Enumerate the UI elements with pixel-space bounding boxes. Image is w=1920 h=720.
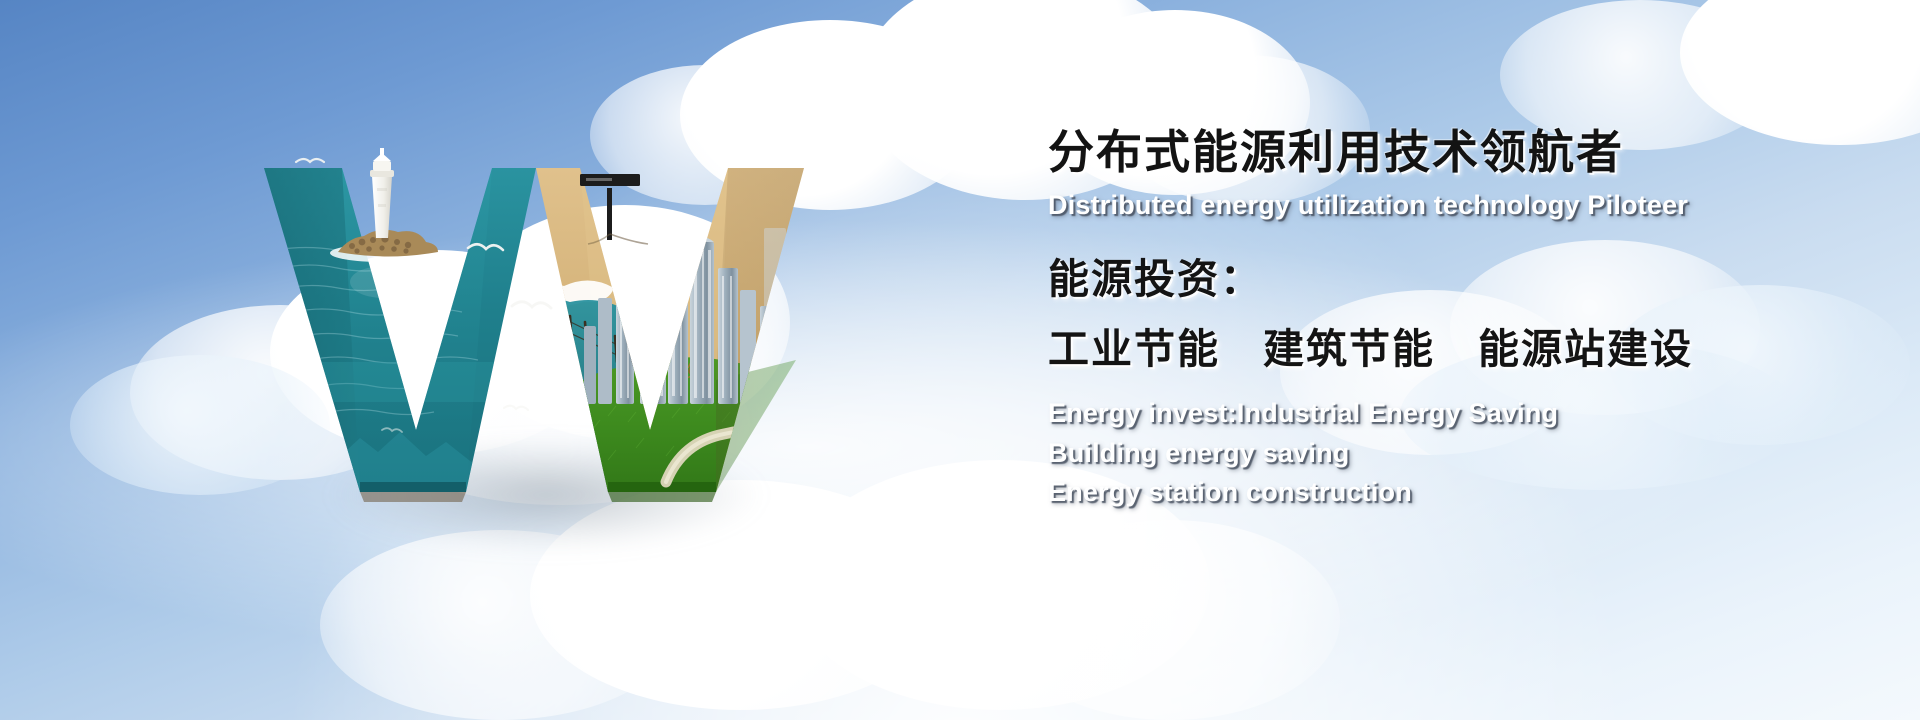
logo-w-svg [236, 130, 856, 530]
banner-text-panel: 分布式能源利用技术领航者 Distributed energy utilizat… [1048, 128, 1748, 512]
lighthouse-icon [370, 148, 394, 238]
service-line-1: Energy invest:Industrial Energy Saving [1048, 394, 1748, 433]
logo-segment-ocean [260, 148, 551, 504]
white-building [802, 253, 846, 406]
headline-english: Distributed energy utilization technolog… [1048, 190, 1748, 221]
label-energy-invest: 能源投资： [1048, 257, 1748, 303]
services-english-block: Energy invest:Industrial Energy Saving B… [1048, 394, 1748, 511]
service-line-2: Building energy saving [1048, 434, 1748, 473]
logo-w-landscape [236, 130, 856, 530]
hero-banner: 分布式能源利用技术领航者 Distributed energy utilizat… [0, 0, 1920, 720]
service-line-3: Energy station construction [1048, 473, 1748, 512]
label-services-chinese: 工业节能 建筑节能 能源站建设 [1048, 327, 1748, 373]
logo-segment-beach-grass [512, 168, 808, 508]
headline-chinese: 分布式能源利用技术领航者 [1048, 128, 1748, 178]
